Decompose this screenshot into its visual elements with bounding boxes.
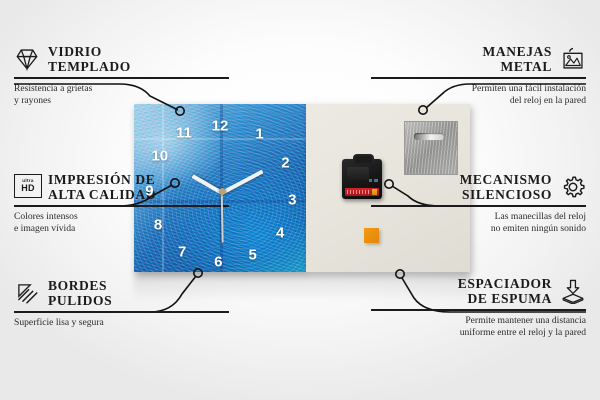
feature-rule	[14, 77, 229, 79]
polished-edges-icon	[14, 280, 40, 306]
clock-numeral-2: 2	[281, 155, 289, 170]
feature-impresion-alta-calidad: ultra HD IMPRESIÓN DE ALTA CALIDAD Color…	[14, 172, 229, 236]
diamond-icon	[14, 46, 40, 72]
feature-vidrio-templado: VIDRIO TEMPLADO Resistencia a grietas y …	[14, 44, 229, 108]
feature-desc-line1: Permite mantener una distancia	[465, 315, 586, 326]
mechanism-body-detail	[347, 167, 369, 180]
clock-numeral-11: 11	[176, 125, 192, 140]
feature-desc-line2: uniforme entre el reloj y la pared	[460, 327, 586, 338]
feature-rule	[14, 205, 229, 207]
feature-title-line1: IMPRESIÓN DE	[48, 172, 155, 187]
clock-numeral-10: 10	[151, 149, 168, 164]
foam-spacer-icon	[560, 278, 586, 304]
feature-desc-line1: Las manecillas del reloj	[495, 211, 586, 222]
feature-desc-line2: e imagen vívida	[14, 223, 75, 234]
feature-desc-line1: Resistencia a grietas	[14, 83, 92, 94]
clock-numeral-5: 5	[249, 248, 257, 263]
feature-title-line1: MANEJAS	[483, 44, 552, 59]
clock-numeral-8: 8	[154, 217, 162, 232]
clock-numeral-9: 9	[145, 184, 153, 199]
feature-desc-line2: del reloj en la pared	[510, 95, 586, 106]
clock-center-pin	[219, 188, 226, 195]
hanger-keyhole-slot	[414, 133, 444, 140]
feature-desc-line1: Superficie lisa y segura	[14, 317, 104, 328]
metal-hanger-plate	[404, 121, 458, 175]
feature-rule	[371, 309, 586, 311]
clock-numeral-7: 7	[178, 244, 186, 259]
feature-espaciador-espuma: ESPACIADOR DE ESPUMA Permite mantener un…	[371, 276, 586, 340]
feature-title-line2: TEMPLADO	[48, 59, 131, 74]
feature-desc-line1: Colores intensos	[14, 211, 78, 222]
clock-numeral-1: 1	[255, 127, 263, 142]
ultra-hd-icon-main-text: HD	[21, 184, 35, 193]
feature-rule	[14, 311, 229, 313]
infographic-canvas: 12 1 2 3 4 5 6 7 8 9 10 11	[0, 0, 600, 400]
clock-numeral-12: 12	[212, 118, 229, 133]
gear-icon	[560, 174, 586, 200]
clock-numeral-3: 3	[288, 192, 296, 207]
feature-bordes-pulidos: BORDES PULIDOS Superficie lisa y segura	[14, 278, 229, 329]
feature-title-line2: SILENCIOSO	[462, 187, 552, 202]
feature-mecanismo-silencioso: MECANISMO SILENCIOSO Las manecillas del …	[371, 172, 586, 236]
feature-title-line1: BORDES	[48, 278, 107, 293]
feature-desc-line2: no emiten ningún sonido	[491, 223, 586, 234]
feature-title-line2: DE ESPUMA	[467, 291, 552, 306]
feature-title-line1: VIDRIO	[48, 44, 102, 59]
mechanism-hanger-tab	[353, 154, 374, 163]
feature-title-line2: PULIDOS	[48, 293, 112, 308]
feature-rule	[371, 77, 586, 79]
feature-desc-line2: y rayones	[14, 95, 51, 106]
battery-bands	[347, 190, 371, 194]
picture-frame-icon	[560, 46, 586, 72]
feature-title-line1: ESPACIADOR	[458, 276, 552, 291]
clock-numeral-6: 6	[214, 254, 222, 269]
ultra-hd-icon: ultra HD	[14, 174, 40, 200]
feature-title-line2: METAL	[500, 59, 552, 74]
clock-numeral-4: 4	[276, 226, 284, 241]
feature-desc-line1: Permiten una fácil instalación	[472, 83, 586, 94]
feature-manejas-metal: MANEJAS METAL Permiten una fácil instala…	[371, 44, 586, 108]
feature-title-line1: MECANISMO	[460, 172, 552, 187]
feature-rule	[371, 205, 586, 207]
feature-title-line2: ALTA CALIDAD	[48, 187, 156, 202]
